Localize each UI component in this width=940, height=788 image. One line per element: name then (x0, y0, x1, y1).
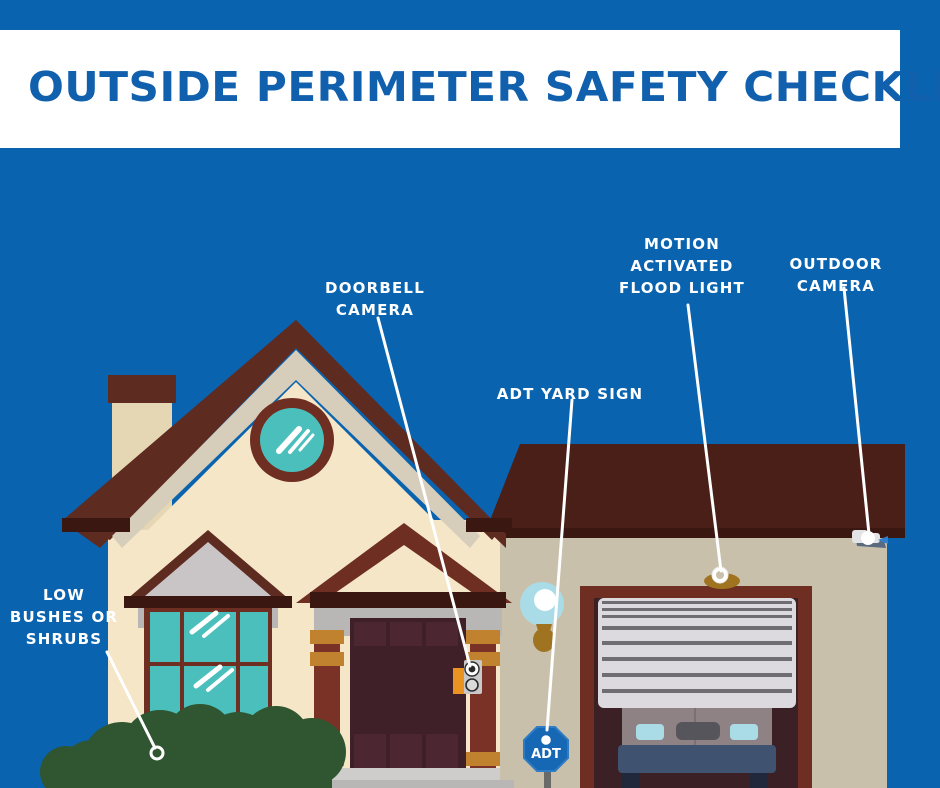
front-step-lower (306, 780, 514, 788)
doorbell-camera-device[interactable] (464, 660, 482, 694)
door-handle-plate (453, 668, 465, 694)
bushes (40, 704, 346, 788)
chimney-cap (108, 375, 176, 403)
yard-sign-dot (540, 734, 552, 746)
garage-door[interactable] (598, 598, 796, 708)
left-eave (62, 518, 130, 532)
label-adt-yard-sign: ADT YARD SIGN (494, 383, 646, 405)
garage-roof (487, 444, 905, 528)
label-doorbell-camera: DOORBELL CAMERA (292, 277, 458, 321)
label-outdoor-camera: OUTDOOR CAMERA (774, 253, 898, 297)
front-step-upper (320, 768, 500, 780)
right-eave (466, 518, 512, 532)
page-title: OUTSIDE PERIMETER SAFETY CHECKLIST (28, 63, 914, 111)
front-door[interactable] (350, 618, 466, 788)
label-motion-activated-flood-light: MOTION ACTIVATED FLOOD LIGHT (603, 233, 761, 299)
infographic-canvas: ADT OUTSIDE PERIMETER SAFETY CHECKLIST L… (0, 0, 940, 788)
label-low-bushes-or-shrubs: LOW BUSHES OR SHRUBS (6, 584, 122, 650)
garage-roof-eave (487, 528, 905, 538)
yard-sign-text-glyph: ADT (531, 747, 561, 762)
